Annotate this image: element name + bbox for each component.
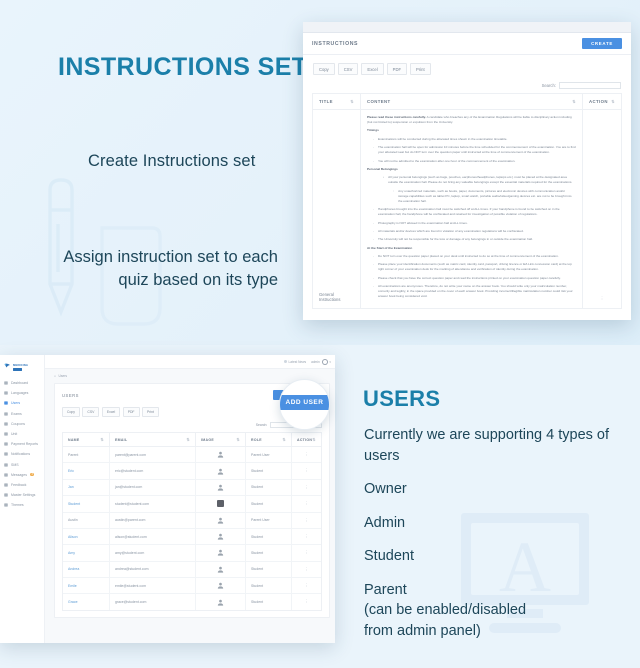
cell-role: Student — [246, 496, 292, 511]
chevron-down-icon: ▾ — [329, 360, 331, 364]
content-bullet: -All materials and/or devices which are … — [367, 229, 576, 234]
content-bullet-text: Handphones brought into the examination … — [378, 207, 576, 217]
bell-icon — [4, 452, 8, 456]
column-header-role[interactable]: ROLE ⇅ — [246, 433, 292, 446]
instructions-screenshot-panel: INSTRUCTIONS CREATE Copy CSV Excel PDF P… — [303, 22, 631, 320]
content-bullet-text: Do NOT turn over the question paper plac… — [378, 254, 559, 259]
cell-action: ⋮ — [292, 545, 321, 560]
export-print-button[interactable]: Print — [410, 63, 431, 75]
content-bullet-text: All materials and/or devices which are f… — [378, 229, 524, 234]
users-search-row: Search: — [62, 422, 322, 428]
sidebar-item-label: Dashboard — [11, 381, 28, 385]
users-intro: Currently we are supporting 4 types of u… — [364, 425, 614, 466]
admin-nav-list: DashboardLanguagesUsersExamsCouponsUnitP… — [0, 378, 44, 510]
cell-name: Austin — [63, 513, 110, 528]
cell-name[interactable]: Student — [63, 496, 110, 511]
avatar-icon — [217, 549, 224, 556]
user-menu[interactable]: admin ▾ — [311, 359, 331, 365]
bullet-dash-icon: - — [373, 137, 374, 142]
cell-name[interactable]: Alison — [63, 529, 110, 544]
table-row: Janjan@student.comStudent⋮ — [63, 480, 321, 496]
cell-name[interactable]: Emile — [63, 578, 110, 593]
cell-email: amy@student.com — [110, 545, 196, 560]
column-header-title-label: TITLE — [319, 99, 333, 104]
sidebar-item-master-settings[interactable]: Master Settings — [0, 490, 44, 500]
cell-email: student@student.com — [110, 496, 196, 511]
cell-action: ⋮ — [292, 513, 321, 528]
avatar-icon — [217, 566, 224, 573]
cell-role: Parent User — [246, 513, 292, 528]
table-row: Gracegrace@student.comStudent⋮ — [63, 594, 321, 609]
users-icon — [4, 401, 8, 405]
sidebar-item-label: Feedback — [11, 483, 26, 487]
sidebar-item-label: Coupons — [11, 422, 25, 426]
cell-image — [196, 463, 246, 478]
content-bullet: -The examination hall will be open for a… — [367, 145, 576, 155]
content-bullet-text: All your personal belongings (such as ba… — [388, 175, 576, 185]
sidebar-item-label: Notifications — [11, 452, 30, 456]
latest-news-label: Latest News — [289, 360, 307, 364]
instructions-bullet-1: Create Instructions set — [88, 152, 255, 171]
row-menu-icon[interactable]: ⋮ — [304, 519, 309, 522]
sidebar-item-exams[interactable]: Exams — [0, 409, 44, 419]
content-bullet-text: All examinations are anonymous. Therefor… — [378, 284, 576, 299]
cell-role: Parent User — [246, 447, 292, 462]
bullet-dash-icon: - — [373, 145, 374, 155]
sidebar-item-label: Themes — [11, 503, 24, 507]
content-heading-belongings: Personal Belongings — [367, 167, 576, 172]
row-menu-icon[interactable]: ⋮ — [304, 453, 309, 456]
cell-action: ⋮ — [292, 529, 321, 544]
sms-icon — [4, 463, 8, 467]
content-bullet: -Do NOT turn over the question paper pla… — [367, 254, 576, 259]
cell-email: austin@parent.com — [110, 513, 196, 528]
table-row: Andreaandrea@student.comStudent⋮ — [63, 562, 321, 578]
sidebar-item-notifications[interactable]: Notifications — [0, 449, 44, 459]
content-bullet: -All examinations are anonymous. Therefo… — [367, 284, 576, 299]
sidebar-badge: 3 — [30, 473, 35, 476]
column-header-role-label: ROLE — [251, 438, 262, 442]
logo-text-line1: MEDICINA — [13, 363, 28, 367]
sidebar-item-coupons[interactable]: Coupons — [0, 419, 44, 429]
instructions-card-header: INSTRUCTIONS CREATE — [303, 33, 631, 55]
avatar-icon — [217, 484, 224, 491]
column-header-content[interactable]: CONTENT ⇅ — [361, 94, 583, 109]
content-bullet: -You will not be admitted to the examina… — [367, 159, 576, 164]
cell-role: Student — [246, 480, 292, 495]
search-input[interactable] — [559, 82, 621, 89]
content-bullet: ◦Any unauthorized materials, such as boo… — [367, 189, 576, 204]
cell-name[interactable]: Jan — [63, 480, 110, 495]
cell-image — [196, 496, 246, 511]
users-description: Currently we are supporting 4 types of u… — [364, 425, 614, 655]
export-pdf-button[interactable]: PDF — [387, 63, 407, 75]
content-intro-strong: Please read these instructions carefully… — [367, 115, 426, 119]
globe-icon — [4, 391, 8, 395]
content-bullet: -Photography is NOT allowed in the exami… — [367, 221, 576, 226]
admin-topbar: Latest News admin ▾ — [45, 355, 335, 369]
avatar-icon — [217, 599, 224, 606]
content-bullet: -Please check that you have the correct … — [367, 276, 576, 281]
cell-role: Student — [246, 463, 292, 478]
sidebar-item-sms[interactable]: SMS — [0, 460, 44, 470]
sort-icon: ⇅ — [186, 438, 190, 441]
dashboard-icon — [4, 381, 8, 385]
cell-image — [196, 545, 246, 560]
sort-icon: ⇅ — [282, 438, 286, 441]
cell-role: Student — [246, 529, 292, 544]
column-header-action[interactable]: ACTION ⇅ — [292, 433, 321, 446]
cell-action: ⋮ — [292, 463, 321, 478]
add-user-callout: ADD USER — [279, 379, 330, 430]
row-menu-icon[interactable]: ⋮ — [600, 297, 605, 300]
sidebar-item-label: Languages — [11, 391, 28, 395]
page-title-instructions: INSTRUCTIONS SET — [58, 53, 307, 82]
cell-email: jan@student.com — [110, 480, 196, 495]
cell-content: Please read these instructions carefully… — [361, 110, 583, 308]
instructions-table: TITLE ⇅ CONTENT ⇅ ACTION ⇅ General Instr… — [312, 93, 622, 309]
content-bullet: •All your personal belongings (such as b… — [367, 175, 576, 185]
export-csv-button[interactable]: CSV — [338, 63, 359, 75]
export-csv-button[interactable]: CSV — [82, 407, 99, 417]
cell-action: ⋮ — [583, 110, 621, 308]
user-type-admin: Admin — [364, 513, 614, 534]
content-bullet-text: The University will not be responsible f… — [378, 237, 533, 242]
column-header-action[interactable]: ACTION ⇅ — [583, 94, 621, 109]
users-table: NAME ⇅ EMAIL ⇅ IMAGE ⇅ ROLE ⇅ — [62, 432, 322, 611]
row-menu-icon[interactable]: ⋮ — [304, 551, 309, 554]
add-user-button[interactable]: ADD USER — [280, 395, 329, 410]
bullet-dash-icon: - — [373, 262, 374, 272]
bullet-dash-icon: - — [373, 221, 374, 226]
column-header-title[interactable]: TITLE ⇅ — [313, 94, 361, 109]
sidebar-item-label: Master Settings — [11, 493, 35, 497]
column-header-email-label: EMAIL — [115, 438, 127, 442]
instructions-export-toolbar: Copy CSV Excel PDF Print — [303, 55, 631, 79]
admin-sidebar: MEDICINA DashboardLanguagesUsersExamsCou… — [0, 355, 45, 643]
cell-email: parent@parent.com — [110, 447, 196, 462]
content-bullet-text: Please place your identification documen… — [378, 262, 576, 272]
export-print-button[interactable]: Print — [142, 407, 159, 417]
instructions-bullet-2: Assign instruction set to each quiz base… — [38, 246, 278, 292]
instructions-card-title: INSTRUCTIONS — [312, 41, 358, 47]
cell-email: emile@student.com — [110, 578, 196, 593]
message-icon — [4, 473, 8, 477]
column-header-action-label: ACTION — [297, 438, 312, 442]
sidebar-item-themes[interactable]: Themes — [0, 500, 44, 510]
content-bullet-text: Examinations will be conducted during th… — [378, 137, 507, 142]
exam-icon — [4, 412, 8, 416]
table-row: Amyamy@student.comStudent⋮ — [63, 545, 321, 561]
column-header-image[interactable]: IMAGE ⇅ — [196, 433, 246, 446]
coupon-icon — [4, 422, 8, 426]
cell-name: Parent — [63, 447, 110, 462]
avatar — [322, 359, 328, 365]
export-copy-button[interactable]: Copy — [62, 407, 80, 417]
table-row: Emileemile@student.comStudent⋮ — [63, 578, 321, 594]
user-type-student: Student — [364, 546, 614, 567]
bullet-dash-icon: - — [373, 237, 374, 242]
cell-image — [196, 447, 246, 462]
bullet-dash-icon: - — [373, 229, 374, 234]
cell-title: General Instructions — [313, 110, 361, 308]
cell-name[interactable]: Grace — [63, 594, 110, 609]
avatar-icon — [217, 517, 224, 524]
cell-role: Student — [246, 594, 292, 609]
avatar-icon — [217, 582, 224, 589]
theme-icon — [4, 503, 8, 507]
latest-news-item[interactable]: Latest News — [284, 360, 307, 364]
sidebar-item-label: Messages — [11, 473, 27, 477]
column-header-image-label: IMAGE — [201, 438, 214, 442]
row-menu-icon[interactable]: ⋮ — [304, 568, 309, 571]
column-header-name[interactable]: NAME ⇅ — [63, 433, 110, 446]
breadcrumb: ⌂ Users — [45, 369, 335, 378]
content-bullet-text: You will not be admitted to the examinat… — [378, 159, 515, 164]
user-menu-label: admin — [311, 360, 320, 364]
cell-action: ⋮ — [292, 480, 321, 495]
browser-titlebar — [303, 22, 631, 33]
column-header-email[interactable]: EMAIL ⇅ — [110, 433, 196, 446]
search-label: Search: — [256, 423, 268, 427]
cell-role: Student — [246, 562, 292, 577]
gear-icon — [4, 493, 8, 497]
cell-name[interactable]: Eric — [63, 463, 110, 478]
export-pdf-button[interactable]: PDF — [123, 407, 140, 417]
cell-email: alison@student.com — [110, 529, 196, 544]
column-header-action-label: ACTION — [589, 99, 608, 104]
user-type-parent: Parent (can be enabled/disabled from adm… — [364, 580, 614, 642]
content-heading-start: At the Start of the Examination — [367, 246, 576, 251]
users-table-header: NAME ⇅ EMAIL ⇅ IMAGE ⇅ ROLE ⇅ — [63, 433, 321, 447]
cell-role: Student — [246, 545, 292, 560]
row-menu-icon[interactable]: ⋮ — [304, 535, 309, 538]
cell-name[interactable]: Amy — [63, 545, 110, 560]
cell-image — [196, 529, 246, 544]
sidebar-item-feedback[interactable]: Feedback — [0, 480, 44, 490]
bullet-dash-icon: - — [373, 276, 374, 281]
feedback-icon — [4, 483, 8, 487]
export-excel-button[interactable]: Excel — [361, 63, 383, 75]
sidebar-item-label: SMS — [11, 463, 19, 467]
cell-name[interactable]: Andrea — [63, 562, 110, 577]
sidebar-item-users[interactable]: Users — [0, 398, 44, 408]
sidebar-item-label: Payment Reports — [11, 442, 38, 446]
avatar-icon — [217, 468, 224, 475]
app-logo[interactable]: MEDICINA — [0, 359, 44, 378]
sidebar-item-payment-reports[interactable]: Payment Reports — [0, 439, 44, 449]
report-icon — [4, 442, 8, 446]
cell-action: ⋮ — [292, 594, 321, 609]
sidebar-item-unit[interactable]: Unit — [0, 429, 44, 439]
sort-icon: ⇅ — [236, 438, 240, 441]
sort-icon: ⇅ — [572, 100, 576, 103]
bullet-dash-icon: - — [373, 254, 374, 259]
sort-icon: ⇅ — [611, 100, 615, 103]
content-bullet-text: Any unauthorized materials, such as book… — [398, 189, 576, 204]
users-table-body: Parentparent@parent.comParent User⋮Erice… — [63, 447, 321, 610]
unit-icon — [4, 432, 8, 436]
table-row: Alisonalison@student.comStudent⋮ — [63, 529, 321, 545]
content-bullet-text: Photography is NOT allowed in the examin… — [378, 221, 468, 226]
logo-mark-icon — [4, 363, 11, 371]
row-menu-icon[interactable]: ⋮ — [304, 502, 309, 505]
user-type-owner: Owner — [364, 479, 614, 500]
cell-action: ⋮ — [292, 562, 321, 577]
cell-image — [196, 513, 246, 528]
row-menu-icon[interactable]: ⋮ — [304, 469, 309, 472]
cell-image — [196, 578, 246, 593]
content-bullet: -Handphones brought into the examination… — [367, 207, 576, 217]
content-bullet: -The University will not be responsible … — [367, 237, 576, 242]
content-bullet-text: Please check that you have the correct q… — [378, 276, 561, 281]
table-row: Austinaustin@parent.comParent User⋮ — [63, 513, 321, 529]
row-menu-icon[interactable]: ⋮ — [304, 584, 309, 587]
cell-image — [196, 480, 246, 495]
cell-email: eric@student.com — [110, 463, 196, 478]
create-button[interactable]: CREATE — [582, 38, 622, 49]
content-bullet: -Please place your identification docume… — [367, 262, 576, 272]
instructions-search-row: Search: — [303, 79, 631, 93]
avatar-icon — [217, 451, 224, 458]
breadcrumb-label: Users — [58, 374, 67, 378]
bullet-dash-icon: - — [373, 284, 374, 299]
cell-role: Student — [246, 578, 292, 593]
row-menu-icon[interactable]: ⋮ — [304, 486, 309, 489]
bullet-circle-icon: ◦ — [393, 189, 394, 204]
table-row: Parentparent@parent.comParent User⋮ — [63, 447, 321, 463]
search-label: Search: — [542, 83, 556, 88]
sidebar-item-label: Users — [11, 401, 20, 405]
sort-icon: ⇅ — [100, 438, 104, 441]
content-bullet: -Examinations will be conducted during t… — [367, 137, 576, 142]
table-row: Studentstudent@student.comStudent⋮ — [63, 496, 321, 512]
bullet-dot-icon: • — [383, 175, 384, 185]
users-card-title: USERS — [62, 393, 79, 398]
bullet-dash-icon: - — [373, 207, 374, 217]
cell-image — [196, 562, 246, 577]
cell-action: ⋮ — [292, 496, 321, 511]
cell-email: grace@student.com — [110, 594, 196, 609]
table-row: General Instructions Please read these i… — [313, 110, 621, 308]
cell-email: andrea@student.com — [110, 562, 196, 577]
sidebar-item-label: Unit — [11, 432, 17, 436]
content-intro: Please read these instructions carefully… — [367, 115, 576, 125]
instructions-table-header: TITLE ⇅ CONTENT ⇅ ACTION ⇅ — [313, 94, 621, 110]
export-excel-button[interactable]: Excel — [102, 407, 120, 417]
export-copy-button[interactable]: Copy — [313, 63, 335, 75]
home-icon[interactable]: ⌂ — [54, 374, 56, 378]
content-bullet-text: The examination hall will be open for ad… — [378, 145, 576, 155]
sidebar-item-languages[interactable]: Languages — [0, 388, 44, 398]
sort-icon: ⇅ — [350, 100, 354, 103]
column-header-content-label: CONTENT — [367, 99, 391, 104]
content-heading-timings: Timings — [367, 128, 576, 133]
cell-action: ⋮ — [292, 447, 321, 462]
avatar-icon — [217, 533, 224, 540]
sidebar-item-dashboard[interactable]: Dashboard — [0, 378, 44, 388]
page-title-users: USERS — [363, 386, 440, 412]
avatar-photo — [217, 500, 224, 507]
row-menu-icon[interactable]: ⋮ — [304, 600, 309, 603]
column-header-name-label: NAME — [68, 438, 80, 442]
table-row: Ericeric@student.comStudent⋮ — [63, 463, 321, 479]
sidebar-item-messages[interactable]: Messages3 — [0, 470, 44, 480]
bullet-dash-icon: - — [373, 159, 374, 164]
news-icon — [284, 360, 287, 363]
logo-text-line2 — [13, 368, 22, 371]
instructions-section: INSTRUCTIONS SET Create Instructions set… — [0, 0, 640, 345]
sidebar-item-label: Exams — [11, 412, 22, 416]
cell-image — [196, 594, 246, 609]
sort-icon: ⇅ — [312, 438, 316, 441]
cell-action: ⋮ — [292, 578, 321, 593]
